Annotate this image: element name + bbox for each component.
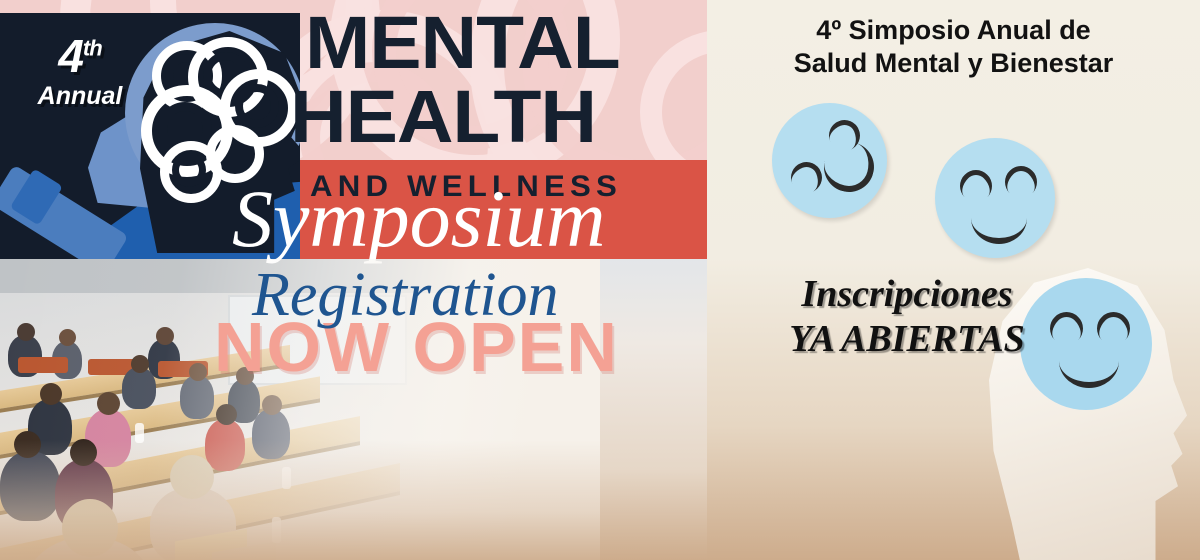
smiley-mouth-icon: [971, 192, 1027, 244]
annual-number: 4: [58, 30, 83, 82]
title-line-symposium: Symposium: [232, 178, 606, 260]
spanish-subtitle-line1: Inscripciones: [707, 272, 1107, 317]
annual-suffix: th: [83, 36, 102, 61]
brain-spiral-icon: [172, 153, 206, 187]
spanish-title: 4º Simposio Anual de Salud Mental y Bien…: [707, 14, 1200, 80]
spanish-flyer-panel: 4º Simposio Anual de Salud Mental y Bien…: [707, 0, 1200, 560]
annual-word: Annual: [16, 84, 144, 109]
spanish-subtitle: Inscripciones YA ABIERTAS: [707, 272, 1107, 362]
english-flyer-panel: 4th Annual MENTAL HEALTH AND WELLNESS Sy…: [0, 0, 707, 560]
annual-edition-badge: 4th Annual: [16, 33, 144, 109]
registration-script-text: Registration: [252, 264, 559, 326]
annual-ordinal: 4th: [16, 33, 144, 79]
brain-spiral-icon: [235, 84, 279, 128]
spanish-subtitle-line2: YA ABIERTAS: [707, 317, 1107, 362]
flyer-banner: 4th Annual MENTAL HEALTH AND WELLNESS Sy…: [0, 0, 1200, 560]
spanish-title-line2: Salud Mental y Bienestar: [707, 47, 1200, 80]
title-line-health: HEALTH: [290, 86, 596, 148]
title-line-mental: MENTAL: [305, 12, 620, 74]
spanish-title-line1: 4º Simposio Anual de: [707, 14, 1200, 47]
photo-bottom-fade-overlay: [0, 440, 600, 560]
